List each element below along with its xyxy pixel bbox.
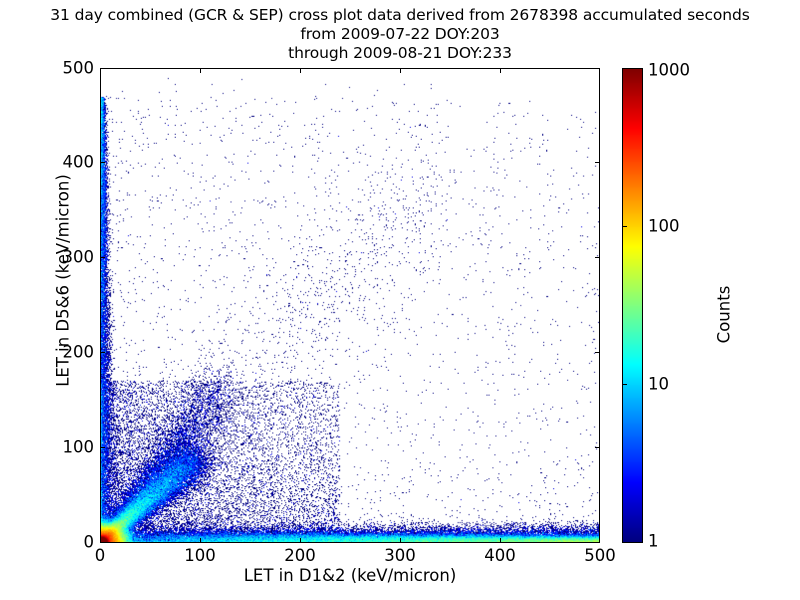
ytick-right-500 <box>595 68 600 69</box>
xtick-top-400 <box>500 68 501 73</box>
ytick-100 <box>100 447 105 448</box>
xtick-100 <box>200 538 201 543</box>
ytick-right-200 <box>595 352 600 353</box>
xtick-300 <box>400 538 401 543</box>
colorbar-tick-1000 <box>623 68 627 69</box>
xtick-top-200 <box>300 68 301 73</box>
xticklabel-0: 0 <box>95 546 106 565</box>
colorbar-label: Counts <box>715 225 734 405</box>
xtick-200 <box>300 538 301 543</box>
xtick-top-300 <box>400 68 401 73</box>
colorbar-ticklabel-1: 1 <box>648 532 659 551</box>
colorbar-ticklabel-10: 10 <box>648 375 669 394</box>
colorbar-ticklabel-100: 100 <box>648 217 680 236</box>
colorbar[interactable] <box>622 68 643 543</box>
colorbar-ticklabel-1000: 1000 <box>648 61 690 80</box>
ytick-500 <box>100 68 105 69</box>
colorbar-tick-1 <box>623 542 627 543</box>
xticklabel-100: 100 <box>184 546 216 565</box>
figure-canvas: 31 day combined (GCR & SEP) cross plot d… <box>0 0 800 600</box>
x-axis-label: LET in D1&2 (keV/micron) <box>100 566 600 585</box>
ytick-400 <box>100 162 105 163</box>
plot-title: 31 day combined (GCR & SEP) cross plot d… <box>0 6 800 63</box>
y-axis-label: LET in D5&6 (keV/micron) <box>54 131 73 431</box>
ytick-right-100 <box>595 447 600 448</box>
title-line-1: 31 day combined (GCR & SEP) cross plot d… <box>0 6 800 25</box>
xticklabel-400: 400 <box>484 546 516 565</box>
yticklabel-0: 0 <box>84 533 95 552</box>
yticklabel-500: 500 <box>63 59 95 78</box>
ytick-300 <box>100 257 105 258</box>
colorbar-tick-10 <box>623 384 627 385</box>
ytick-right-0 <box>595 542 600 543</box>
ytick-right-300 <box>595 257 600 258</box>
xticklabel-200: 200 <box>284 546 316 565</box>
xtick-top-100 <box>200 68 201 73</box>
ytick-0 <box>100 542 105 543</box>
xtick-400 <box>500 538 501 543</box>
heatmap-scatter-layer <box>101 69 599 542</box>
xticklabel-500: 500 <box>584 546 616 565</box>
main-plot-axes[interactable] <box>100 68 600 543</box>
ytick-200 <box>100 352 105 353</box>
ytick-right-400 <box>595 162 600 163</box>
xticklabel-300: 300 <box>384 546 416 565</box>
title-line-2: from 2009-07-22 DOY:203 <box>0 25 800 44</box>
yticklabel-100: 100 <box>63 438 95 457</box>
colorbar-tick-100 <box>623 226 627 227</box>
colorbar-gradient <box>623 69 642 542</box>
